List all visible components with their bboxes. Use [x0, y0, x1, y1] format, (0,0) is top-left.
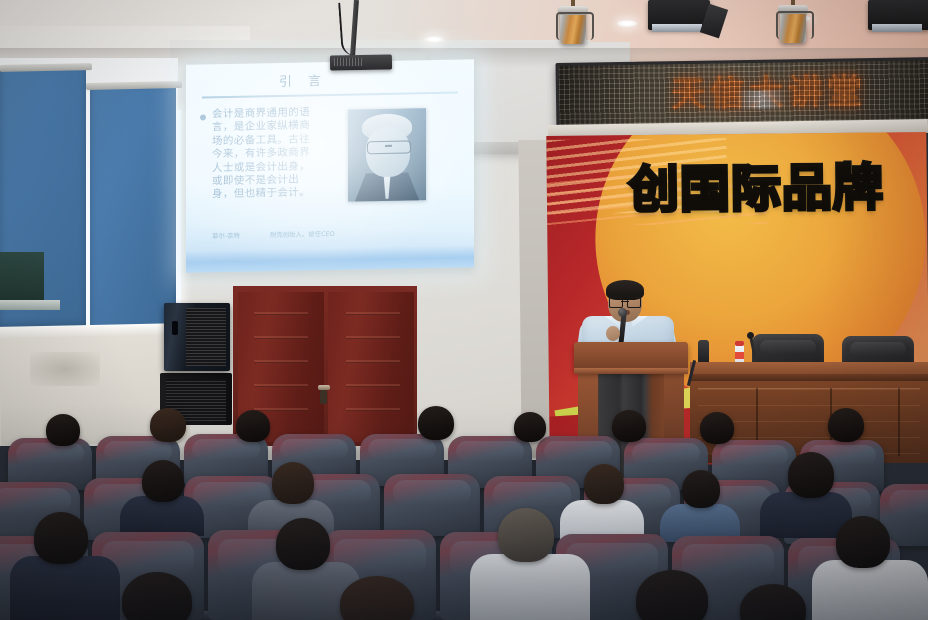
door-lock-plate [320, 390, 327, 404]
table-microphone-head [747, 332, 754, 339]
audience-seating [0, 404, 928, 620]
door-panel-line [346, 312, 400, 315]
audience-head [418, 406, 454, 440]
audience-head [836, 516, 890, 568]
slide-title-rule [202, 92, 458, 99]
presenter-glasses-icon [609, 297, 641, 306]
audience-head [612, 410, 646, 442]
door-panel-line [346, 384, 400, 387]
ceiling-downlight [424, 36, 444, 43]
audience-head [272, 462, 314, 504]
slide-bullet-icon [200, 114, 206, 120]
floodlight-lens [872, 24, 922, 32]
speaker-port [172, 321, 178, 335]
audience-head [142, 460, 184, 502]
portrait-glasses-icon [367, 140, 411, 154]
table-lip [690, 374, 928, 381]
credit-name: 菲尔-奈特 [212, 231, 258, 241]
audience-head [700, 412, 734, 444]
microphone-head [618, 308, 627, 317]
audience-head [276, 518, 330, 570]
audience-shoulders [470, 554, 590, 620]
floodlight-lens [652, 24, 702, 32]
audience-head [150, 408, 186, 442]
presenter-left-hand [606, 326, 620, 341]
bottle-label [735, 352, 744, 359]
stage-spotlight [776, 3, 810, 47]
spotlight-yoke [556, 12, 594, 40]
stage-floodlight [868, 0, 928, 30]
spotlight-yoke [776, 11, 814, 39]
credit-row: 菲尔-奈特 耐克创始人、前任CEO [212, 230, 335, 241]
slide-portrait-image [348, 108, 426, 201]
audience-head [498, 508, 554, 562]
bottle-cap [735, 341, 744, 346]
chalkboard-edge [0, 252, 44, 304]
audience-shoulders [10, 556, 120, 620]
ceiling-downlight [617, 20, 637, 27]
door-panel-line [254, 384, 308, 387]
stage-floodlight [648, 0, 710, 30]
audience-head [236, 410, 270, 442]
projector-cable [338, 1, 362, 56]
audience-head [682, 470, 720, 508]
door-panel-line [254, 336, 308, 339]
door-panel-line [254, 360, 308, 363]
slide-title: 引 言 [228, 69, 378, 91]
chalk-rail [0, 300, 60, 310]
audience-head [828, 408, 864, 442]
credit-role: 耐克创始人、前任CEO [270, 230, 335, 240]
lectern-top-edge [574, 368, 688, 374]
door-panel-line [254, 312, 308, 315]
door-panel-line [346, 360, 400, 363]
seat[interactable] [384, 474, 480, 536]
audience-shoulders [812, 560, 928, 620]
roller-blind[interactable] [90, 88, 176, 336]
audience-head [584, 464, 624, 504]
slide-body-text: 会计是商界通用的语言，是企业家纵横商场的必备工具。古往今来，有许多政商界人士或是… [212, 106, 318, 202]
projection-screen: 引 言 会计是商界通用的语言，是企业家纵横商场的必备工具。古往今来，有许多政商界… [186, 59, 474, 273]
audience-shoulders [120, 496, 204, 536]
audience-head [34, 512, 88, 564]
speaker-grille [186, 308, 226, 366]
projector-vents [334, 58, 362, 66]
stage-spotlight [556, 4, 590, 48]
lecture-hall-photo: 引 言 会计是商界通用的语言，是企业家纵横商场的必备工具。古往今来，有许多政商界… [0, 0, 928, 620]
audience-head [46, 414, 80, 446]
backdrop-slogan-text: 创国际品牌 [629, 156, 885, 221]
door-panel-line [346, 336, 400, 339]
audience-head [514, 412, 546, 442]
wall-smudge [30, 352, 100, 386]
audience-head [788, 452, 834, 498]
